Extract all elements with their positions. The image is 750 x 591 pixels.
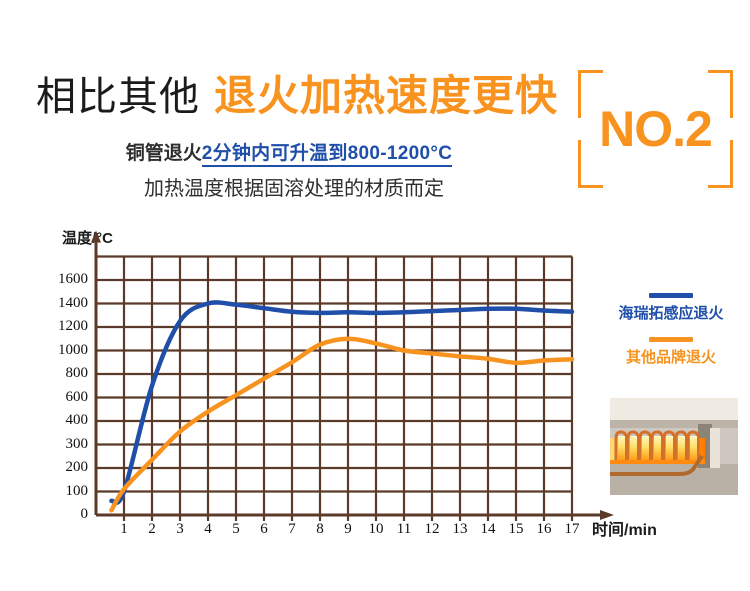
y-axis-arrow (91, 231, 101, 243)
subtitle-line-1: 铜管退火2分钟内可升温到800-1200°C (0, 138, 578, 165)
x-axis-tick-label: 4 (193, 521, 223, 538)
legend-item: 海瑞拓感应退火 (592, 293, 750, 323)
gridlines (96, 257, 572, 522)
x-axis-tick-label: 8 (305, 521, 335, 538)
x-axis-tick-label: 14 (473, 521, 503, 538)
legend-swatch-blue (649, 293, 693, 298)
legend-label-orange: 其他品牌退火 (626, 349, 716, 366)
subtitle-line-2: 加热温度根据固溶处理的材质而定 (0, 172, 588, 201)
x-axis-tick-label: 12 (417, 521, 447, 538)
x-axis-tick-label: 9 (333, 521, 363, 538)
x-axis-tick-label: 15 (501, 521, 531, 538)
rank-badge-label: NO.2 (578, 100, 733, 158)
headline-accent: 退火加热速度更快 (214, 62, 558, 123)
x-axis-tick-label: 11 (389, 521, 419, 538)
x-axis-tick-label: 7 (277, 521, 307, 538)
x-axis-tick-label: 5 (221, 521, 251, 538)
x-axis-tick-label: 17 (557, 521, 587, 538)
temperature-time-chart: 温度/°C 时间/min 010020030040060080010001200… (0, 215, 750, 591)
x-axis-tick-label: 10 (361, 521, 391, 538)
x-axis-tick-label: 16 (529, 521, 559, 538)
legend-label-blue: 海瑞拓感应退火 (618, 305, 723, 322)
subtitle-1-plain: 铜管退火 (126, 143, 202, 164)
x-axis-tick-label: 1 (109, 521, 139, 538)
legend-item: 其他品牌退火 (592, 337, 750, 367)
induction-coil-photo (610, 398, 738, 495)
x-axis-tick-label: 13 (445, 521, 475, 538)
x-axis-tick-label: 6 (249, 521, 279, 538)
legend-swatch-orange (649, 337, 693, 342)
x-axis-tick-label: 2 (137, 521, 167, 538)
rank-badge: NO.2 (578, 70, 733, 188)
subtitle-1-highlight: 2分钟内可升温到800-1200°C (202, 143, 453, 167)
axis-lines (91, 231, 614, 521)
header-banner: 相比其他 退火加热速度更快 铜管退火2分钟内可升温到800-1200°C 加热温… (0, 0, 750, 215)
chart-legend: 海瑞拓感应退火 其他品牌退火 (592, 293, 750, 381)
x-axis-tick-label: 3 (165, 521, 195, 538)
headline-plain: 相比其他 (36, 64, 200, 122)
headline: 相比其他 退火加热速度更快 (36, 62, 558, 123)
x-axis-arrow (600, 510, 614, 520)
